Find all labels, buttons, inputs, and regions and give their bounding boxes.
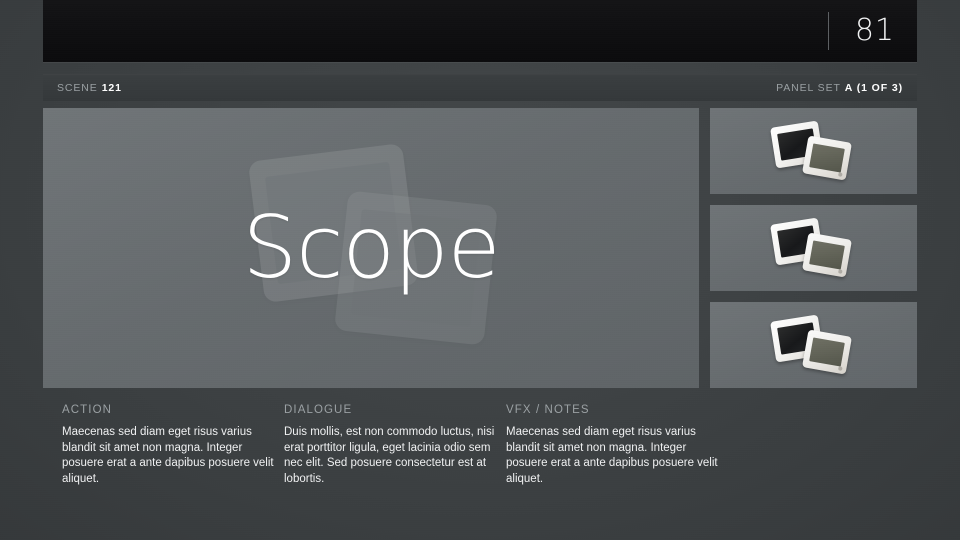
panel-set-label: PANEL SET [776, 82, 841, 94]
thumbnail-panel-2[interactable] [710, 205, 917, 291]
notes-column-action: ACTION Maecenas sed diam eget risus vari… [43, 404, 284, 487]
meta-bar: SCENE121 PANEL SETA (1 OF 3) [43, 74, 917, 101]
panel-set-value: A (1 OF 3) [845, 82, 903, 94]
thumbnail-column [710, 108, 917, 388]
photo-frame-front-dot [838, 172, 843, 177]
page-title: Scope [243, 205, 500, 291]
notes-body-action[interactable]: Maecenas sed diam eget risus varius blan… [62, 425, 284, 487]
notes-heading-vfx: VFX / NOTES [506, 404, 728, 416]
photo-frame-front-window [809, 337, 845, 366]
thumbnail-panel-3[interactable] [710, 302, 917, 388]
photo-frame-front-icon [802, 232, 852, 277]
panel-area: Scope [43, 108, 917, 388]
photo-stack-icon [771, 122, 857, 180]
thumbnail-panel-1[interactable] [710, 108, 917, 194]
photo-frame-front-window [809, 240, 845, 269]
page-number: 81 [855, 16, 895, 46]
scene-label: SCENE [57, 82, 98, 94]
photo-frame-front-icon [802, 329, 852, 374]
photo-frame-front-dot [838, 366, 843, 371]
vertical-divider-icon [828, 12, 829, 50]
notes-heading-dialogue: DIALOGUE [284, 404, 506, 416]
notes-heading-action: ACTION [62, 404, 284, 416]
header-bar: 81 [43, 0, 917, 62]
scene-value: 121 [102, 82, 122, 94]
photo-stack-icon [771, 316, 857, 374]
header-right-group: 81 [828, 0, 917, 62]
panel-set-indicator[interactable]: PANEL SETA (1 OF 3) [776, 82, 903, 94]
notes-body-vfx[interactable]: Maecenas sed diam eget risus varius blan… [506, 425, 728, 487]
photo-frame-front-window [809, 143, 845, 172]
photo-frame-front-icon [802, 135, 852, 180]
scene-indicator[interactable]: SCENE121 [57, 82, 122, 94]
notes-body-dialogue[interactable]: Duis mollis, est non commodo luctus, nis… [284, 425, 506, 487]
notes-column-dialogue: DIALOGUE Duis mollis, est non commodo lu… [284, 404, 506, 487]
photo-frame-front-dot [838, 269, 843, 274]
storyboard-page: 81 SCENE121 PANEL SETA (1 OF 3) Scope [0, 0, 960, 540]
notes-section: ACTION Maecenas sed diam eget risus vari… [43, 404, 917, 487]
notes-column-vfx: VFX / NOTES Maecenas sed diam eget risus… [506, 404, 728, 487]
main-panel[interactable]: Scope [43, 108, 699, 388]
photo-stack-icon [771, 219, 857, 277]
